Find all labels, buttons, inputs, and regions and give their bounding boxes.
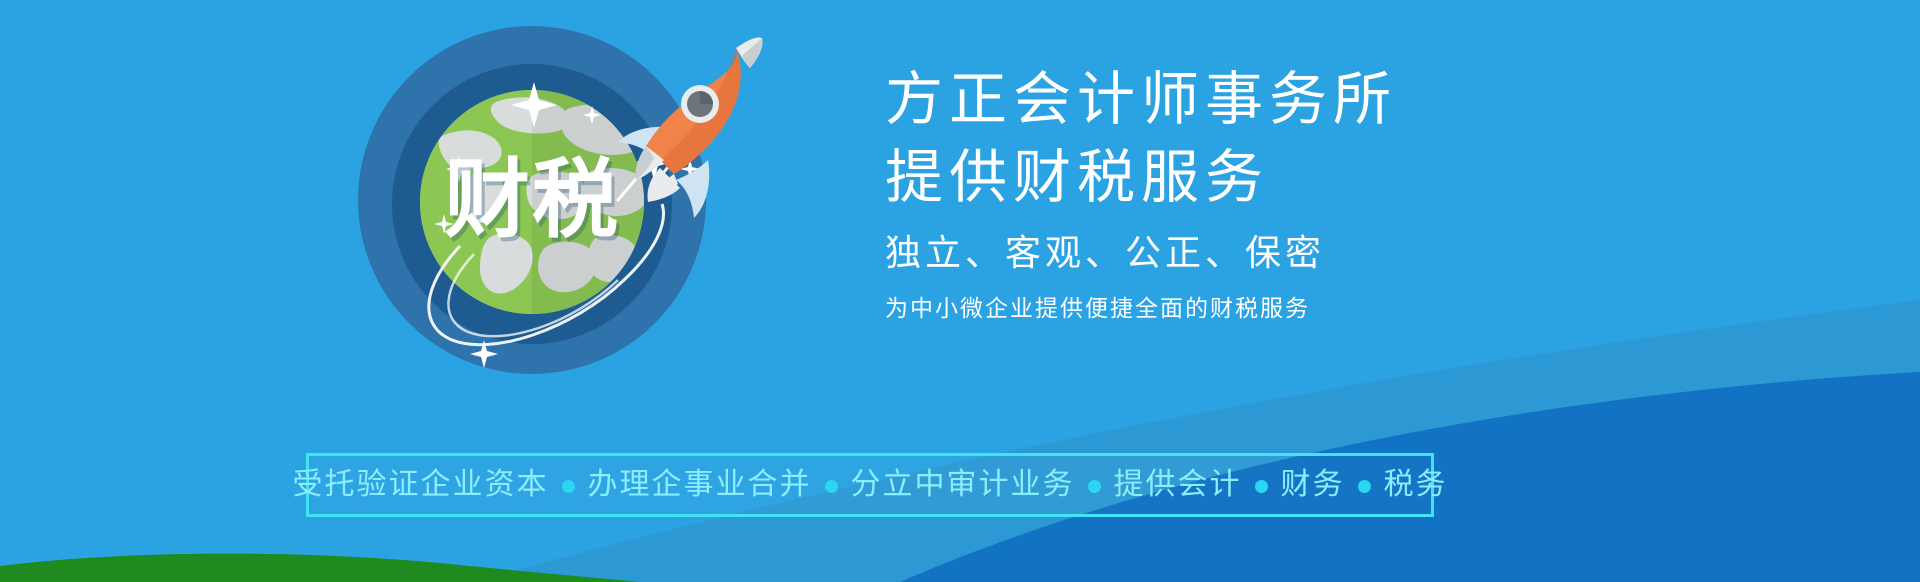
headline-block: 方正会计师事务所 提供财税服务 独立、客观、公正、保密 为中小微企业提供便捷全面… xyxy=(885,62,1785,326)
service-list: 受托验证企业资本办理企事业合并分立中审计业务提供会计财务税务 xyxy=(293,468,1448,502)
headline-line-2: 提供财税服务 xyxy=(885,140,1785,214)
service-item: 税务 xyxy=(1384,468,1448,502)
rocket-icon xyxy=(590,18,790,218)
service-item: 受托验证企业资本 xyxy=(293,468,549,502)
service-item: 提供会计 xyxy=(1114,468,1242,502)
rocket-illustration xyxy=(590,18,790,218)
service-separator-dot xyxy=(1255,480,1268,493)
service-item: 分立中审计业务 xyxy=(851,468,1075,502)
headline-line-4: 为中小微企业提供便捷全面的财税服务 xyxy=(885,292,1785,326)
service-bar: 受托验证企业资本办理企事业合并分立中审计业务提供会计财务税务 xyxy=(306,453,1434,517)
headline-line-3: 独立、客观、公正、保密 xyxy=(885,226,1785,282)
service-separator-dot xyxy=(562,480,575,493)
headline-line-1: 方正会计师事务所 xyxy=(885,62,1785,136)
service-separator-dot xyxy=(825,480,838,493)
service-separator-dot xyxy=(1358,480,1371,493)
service-item: 办理企事业合并 xyxy=(588,468,812,502)
service-separator-dot xyxy=(1088,480,1101,493)
promo-banner: 财税 xyxy=(0,0,1920,582)
service-item: 财务 xyxy=(1281,468,1345,502)
